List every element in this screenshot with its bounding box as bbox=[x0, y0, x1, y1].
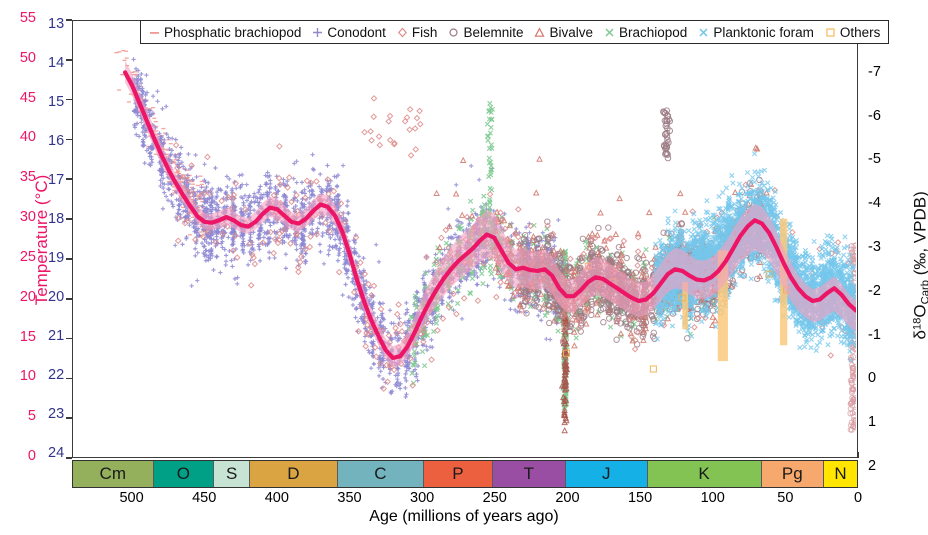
temp-tick-label: 50 bbox=[2, 50, 36, 66]
carb-tick-label: -6 bbox=[868, 108, 902, 124]
series-conodont bbox=[130, 57, 568, 399]
carb-tick-label: -5 bbox=[868, 151, 902, 167]
square-marker bbox=[825, 27, 836, 38]
carb-tick-label: 2 bbox=[868, 458, 902, 474]
age-tick-label: 500 bbox=[109, 490, 155, 506]
temp-tick-label: 55 bbox=[2, 10, 36, 26]
temp-tick-label: 35 bbox=[2, 169, 36, 185]
carb-tick-label: 1 bbox=[868, 414, 902, 430]
period-label: K bbox=[698, 464, 709, 484]
temp-tick-label: 30 bbox=[2, 209, 36, 225]
plot-area bbox=[72, 20, 858, 458]
legend-item-label: Bivalve bbox=[549, 25, 593, 40]
legend-item-diamond[interactable]: Fish bbox=[397, 25, 438, 40]
period-label: O bbox=[177, 464, 190, 484]
legend-box: Phosphatic brachiopodConodontFishBelemni… bbox=[140, 20, 889, 44]
temp-tick-label: 15 bbox=[2, 329, 36, 345]
period-d: D bbox=[250, 461, 337, 487]
legend-item-square[interactable]: Others bbox=[825, 25, 881, 40]
age-tick-label: 50 bbox=[762, 490, 808, 506]
temp-tick-label: 10 bbox=[2, 368, 36, 384]
carb-tick-label: 0 bbox=[868, 370, 902, 386]
age-axis-title: Age (millions of years ago) bbox=[0, 508, 928, 526]
age-tick-label: 350 bbox=[326, 490, 372, 506]
age-tick-label: 100 bbox=[690, 490, 736, 506]
period-label: Pg bbox=[782, 464, 803, 484]
temp-tick-label: 45 bbox=[2, 90, 36, 106]
carb-subscript: Carb bbox=[919, 280, 928, 304]
carb-superscript: 18 bbox=[912, 318, 924, 330]
period-o: O bbox=[154, 461, 215, 487]
legend-item-label: Brachiopod bbox=[619, 25, 687, 40]
carb-tick-label: -3 bbox=[868, 239, 902, 255]
period-cm: Cm bbox=[73, 461, 154, 487]
x-marker bbox=[698, 27, 709, 38]
period-label: P bbox=[452, 464, 463, 484]
age-tick-label: 400 bbox=[254, 490, 300, 506]
age-tick-label: 0 bbox=[835, 490, 881, 506]
temp-tick-label: 25 bbox=[2, 249, 36, 265]
period-n: N bbox=[824, 461, 857, 487]
circle-marker bbox=[448, 27, 459, 38]
geologic-period-bar: CmOSDCPTJKPgN bbox=[72, 460, 858, 488]
period-label: S bbox=[226, 464, 237, 484]
period-j: J bbox=[566, 461, 648, 487]
legend-item-label: Planktonic foram bbox=[713, 25, 814, 40]
period-k: K bbox=[648, 461, 762, 487]
age-tick-label: 300 bbox=[399, 490, 445, 506]
carb-element: O bbox=[911, 304, 928, 317]
period-pg: Pg bbox=[762, 461, 824, 487]
carb-tick-label: -7 bbox=[868, 64, 902, 80]
dash-marker bbox=[149, 27, 160, 38]
legend-item-dash[interactable]: Phosphatic brachiopod bbox=[149, 25, 301, 40]
period-label: T bbox=[524, 464, 534, 484]
plus-marker bbox=[312, 27, 323, 38]
period-label: D bbox=[287, 464, 299, 484]
legend-item-label: Others bbox=[840, 25, 881, 40]
legend-item-label: Conodont bbox=[327, 25, 386, 40]
triangle-marker bbox=[534, 27, 545, 38]
temp-tick-label: 5 bbox=[2, 408, 36, 424]
age-tick-label: 450 bbox=[181, 490, 227, 506]
period-label: Cm bbox=[100, 464, 126, 484]
diamond-marker bbox=[397, 27, 408, 38]
carb-tick-label: -1 bbox=[868, 327, 902, 343]
figure-root: Temperature (°C) δ18OPhos (‰, VSMOW) δ18… bbox=[0, 0, 928, 535]
legend-item-plus[interactable]: Conodont bbox=[312, 25, 386, 40]
legend-item-label: Fish bbox=[412, 25, 438, 40]
legend-item-label: Belemnite bbox=[463, 25, 523, 40]
legend-item-x[interactable]: Brachiopod bbox=[604, 25, 687, 40]
period-c: C bbox=[338, 461, 425, 487]
temp-tick-label: 40 bbox=[2, 129, 36, 145]
carb-delta: δ bbox=[911, 330, 928, 339]
x-marker bbox=[604, 27, 615, 38]
legend-item-triangle[interactable]: Bivalve bbox=[534, 25, 593, 40]
period-p: P bbox=[424, 461, 492, 487]
age-tick-label: 200 bbox=[544, 490, 590, 506]
carb-units: (‰, VPDB) bbox=[911, 191, 928, 275]
period-label: N bbox=[834, 464, 846, 484]
period-label: C bbox=[374, 464, 386, 484]
age-tick-label: 250 bbox=[472, 490, 518, 506]
period-t: T bbox=[493, 461, 566, 487]
carb-tick-label: -2 bbox=[868, 283, 902, 299]
legend-item-label: Phosphatic brachiopod bbox=[164, 25, 301, 40]
temp-tick-label: 0 bbox=[2, 448, 36, 464]
delta18o-carb-axis-title: δ18OCarb (‰, VPDB) bbox=[911, 130, 928, 400]
period-label: J bbox=[602, 464, 611, 484]
legend-item-x[interactable]: Planktonic foram bbox=[698, 25, 814, 40]
carb-tick-label: -4 bbox=[868, 195, 902, 211]
legend-item-circle[interactable]: Belemnite bbox=[448, 25, 523, 40]
temp-tick-label: 20 bbox=[2, 289, 36, 305]
plot-canvas bbox=[73, 21, 856, 456]
period-s: S bbox=[214, 461, 250, 487]
age-tick-label: 150 bbox=[617, 490, 663, 506]
